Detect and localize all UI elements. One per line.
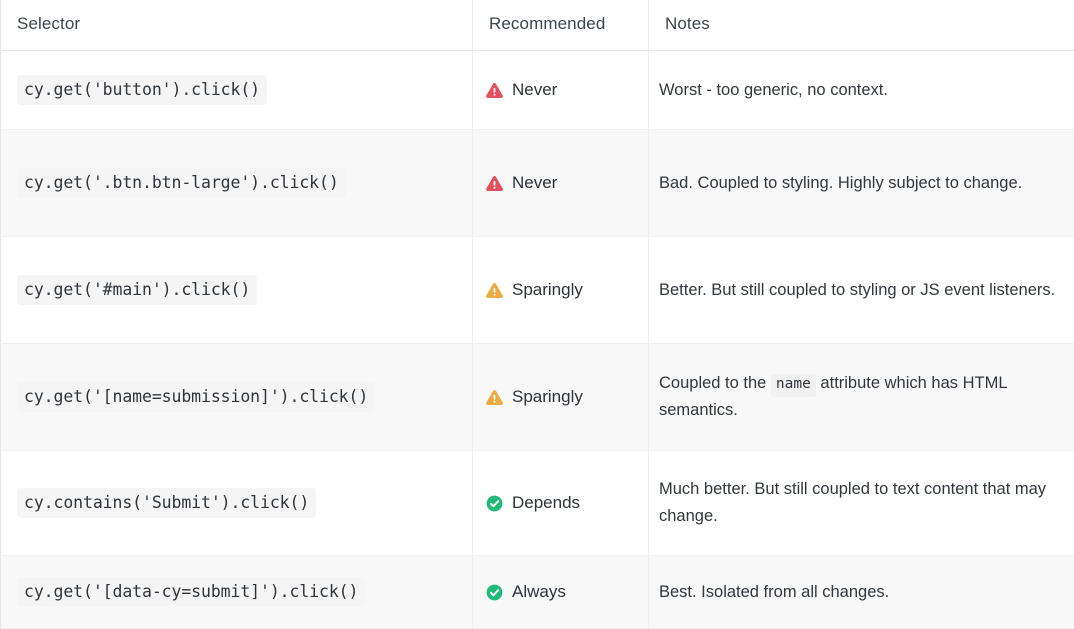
check-circle-icon [485,494,504,513]
cell-recommended: Depends [473,451,649,556]
recommendation-label: Sparingly [512,383,583,411]
cell-selector: cy.contains('Submit').click() [1,451,473,556]
cell-selector: cy.get('[name=submission]').click() [1,344,473,451]
notes-text: Much better. But still coupled to text c… [659,476,1056,529]
cell-recommended: Never [473,130,649,237]
selector-code: cy.get('button').click() [17,75,267,105]
cell-notes: Worst - too generic, no context. [649,51,1074,130]
notes-text: Bad. Coupled to styling. Highly subject … [659,170,1056,197]
table-row: cy.get('[data-cy=submit]').click() Alway… [1,556,1074,629]
table-row: cy.get('button').click() Never [1,51,1074,130]
cell-selector: cy.get('.btn.btn-large').click() [1,130,473,237]
notes-text: Worst - too generic, no context. [659,77,1056,104]
cell-notes: Much better. But still coupled to text c… [649,451,1074,556]
recommendation-label: Never [512,169,557,197]
selector-code: cy.get('[name=submission]').click() [17,382,375,412]
table-row: cy.contains('Submit').click() Depends [1,451,1074,556]
notes-prefix: Much better. But still coupled to text c… [659,480,1046,525]
table-body: cy.get('button').click() Never [1,51,1074,629]
recommendation-label: Sparingly [512,276,583,304]
cell-notes: Bad. Coupled to styling. Highly subject … [649,130,1074,237]
cell-selector: cy.get('[data-cy=submit]').click() [1,556,473,629]
recommendation-label: Always [512,578,566,606]
notes-prefix: Better. But still coupled to styling or … [659,281,1055,299]
recommendation-label: Never [512,76,557,104]
notes-prefix: Coupled to the [659,374,771,392]
cell-recommended: Sparingly [473,237,649,344]
header-row: Selector Recommended Notes [1,0,1074,51]
notes-text: Best. Isolated from all changes. [659,579,1056,606]
recommendation-label: Depends [512,489,580,517]
selector-code: cy.get('.btn.btn-large').click() [17,168,346,198]
warning-triangle-icon [485,81,504,100]
cell-recommended: Never [473,51,649,130]
table-row: cy.get('#main').click() Sparingly [1,237,1074,344]
cell-recommended: Always [473,556,649,629]
cell-selector: cy.get('button').click() [1,51,473,130]
column-header-notes: Notes [649,0,1074,51]
cell-notes: Coupled to the name attribute which has … [649,344,1074,451]
notes-prefix: Bad. Coupled to styling. Highly subject … [659,174,1022,192]
cell-recommended: Sparingly [473,344,649,451]
warning-triangle-icon [485,281,504,300]
notes-text: Better. But still coupled to styling or … [659,277,1056,304]
check-circle-icon [485,583,504,602]
cell-selector: cy.get('#main').click() [1,237,473,344]
column-header-selector: Selector [1,0,473,51]
notes-prefix: Best. Isolated from all changes. [659,583,889,601]
selector-best-practices-table: Selector Recommended Notes cy.get('butto… [0,0,1074,629]
notes-prefix: Worst - too generic, no context. [659,81,888,99]
cell-notes: Best. Isolated from all changes. [649,556,1074,629]
table-header: Selector Recommended Notes [1,0,1074,51]
notes-text: Coupled to the name attribute which has … [659,370,1056,423]
selector-code: cy.contains('Submit').click() [17,488,316,518]
selector-code: cy.get('#main').click() [17,275,257,305]
selector-code: cy.get('[data-cy=submit]').click() [17,577,365,607]
table: Selector Recommended Notes cy.get('butto… [0,0,1074,629]
column-header-recommended: Recommended [473,0,649,51]
warning-triangle-icon [485,388,504,407]
notes-inline-code: name [771,374,816,396]
table-row: cy.get('[name=submission]').click() Spar… [1,344,1074,451]
cell-notes: Better. But still coupled to styling or … [649,237,1074,344]
table-row: cy.get('.btn.btn-large').click() Never [1,130,1074,237]
warning-triangle-icon [485,174,504,193]
